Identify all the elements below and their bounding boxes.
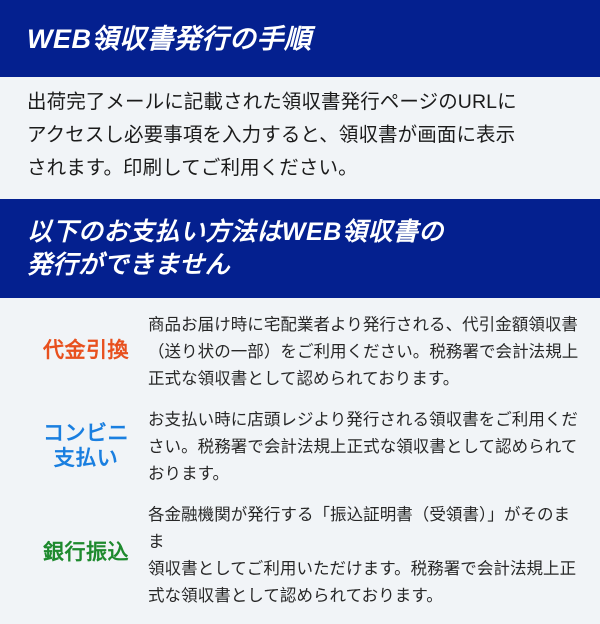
payment-method-label-bank: 銀行振込 bbox=[26, 502, 146, 565]
page-title: WEB領収書発行の手順 bbox=[27, 24, 312, 54]
payment-method-row-bank: 銀行振込 各金融機関が発行する「振込証明書（受領書）」がそのまま 領収書としてご… bbox=[0, 502, 600, 610]
payment-methods-list: 代金引換 商品お届け時に宅配業者より発行される、代引金額領収書 （送り状の一部）… bbox=[0, 312, 600, 624]
payment-method-label-cod: 代金引換 bbox=[26, 312, 146, 363]
payment-method-row-konbini: コンビニ 支払い お支払い時に店頭レジより発行される領収書をご利用くだ さい。税… bbox=[0, 407, 600, 488]
payment-method-description-konbini: お支払い時に店頭レジより発行される領収書をご利用くだ さい。税務署で会計法規上正… bbox=[148, 407, 600, 488]
receipt-info-page: WEB領収書発行の手順 出荷完了メールに記載された領収書発行ページのURLに ア… bbox=[0, 0, 600, 600]
main-header-bar: WEB領収書発行の手順 bbox=[0, 0, 600, 77]
payment-method-label-konbini: コンビニ 支払い bbox=[26, 407, 146, 471]
payment-method-description-bank: 各金融機関が発行する「振込証明書（受領書）」がそのまま 領収書としてご利用いただ… bbox=[148, 502, 600, 610]
section-header-bar: 以下のお支払い方法はWEB領収書の 発行ができません bbox=[0, 199, 600, 298]
intro-paragraph: 出荷完了メールに記載された領収書発行ページのURLに アクセスし必要事項を入力す… bbox=[27, 86, 575, 185]
payment-method-description-cod: 商品お届け時に宅配業者より発行される、代引金額領収書 （送り状の一部）をご利用く… bbox=[148, 312, 600, 393]
payment-method-row-cod: 代金引換 商品お届け時に宅配業者より発行される、代引金額領収書 （送り状の一部）… bbox=[0, 312, 600, 393]
section-title: 以下のお支払い方法はWEB領収書の 発行ができません bbox=[27, 216, 444, 282]
